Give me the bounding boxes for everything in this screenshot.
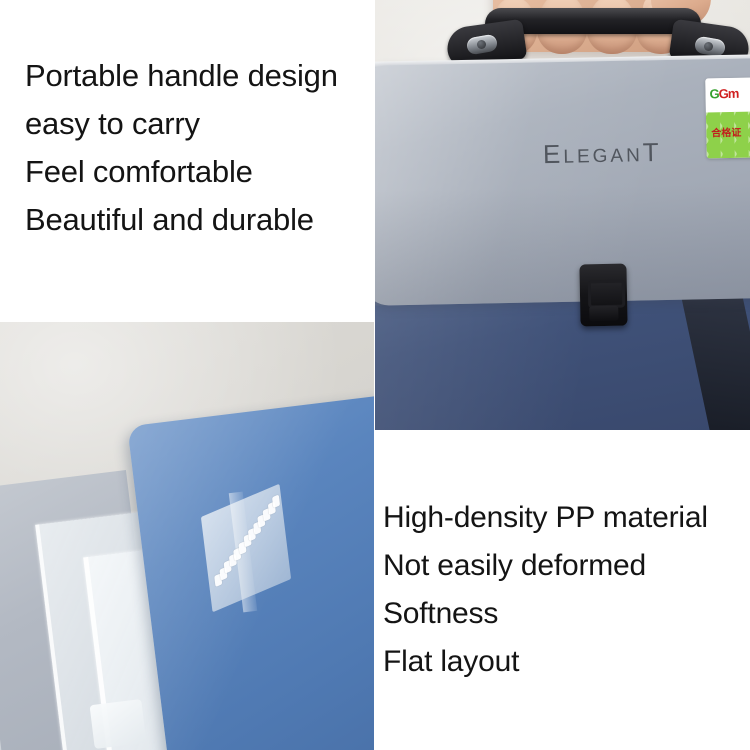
vertical-divider [374, 0, 375, 750]
material-line-3: Softness [383, 590, 708, 638]
feature-line-4: Beautiful and durable [25, 196, 338, 244]
buckle-base [589, 306, 618, 322]
brand-last: T [642, 137, 661, 167]
sticker-logo-label: Gm [719, 86, 739, 101]
grey-flap-shading [375, 183, 750, 306]
buckle-latch [588, 280, 626, 309]
buckle-clasp[interactable] [579, 264, 627, 327]
sticker-logo-text: GGm [709, 86, 738, 102]
product-feature-collage: Portable handle design easy to carry Fee… [0, 0, 750, 750]
hinge-rivet-right [704, 42, 713, 51]
hinge-rivet-left [477, 40, 486, 49]
feature-list-handle: Portable handle design easy to carry Fee… [25, 52, 338, 244]
material-line-4: Flat layout [383, 638, 708, 686]
feature-list-material: High-density PP material Not easily defo… [383, 494, 708, 686]
feature-line-2: easy to carry [25, 100, 338, 148]
material-line-1: High-density PP material [383, 494, 708, 542]
bottom-right-text-panel: High-density PP material Not easily defo… [375, 430, 750, 750]
sticker-cert-text: 合格证 [711, 124, 741, 140]
right-horizontal-divider [375, 430, 750, 431]
feature-line-1: Portable handle design [25, 52, 338, 100]
left-horizontal-divider [0, 321, 375, 322]
pp-divider-tab [90, 699, 147, 749]
top-left-text-panel: Portable handle design easy to carry Fee… [0, 0, 375, 322]
feature-line-3: Feel comfortable [25, 148, 338, 196]
index-number [272, 495, 280, 509]
material-line-2: Not easily deformed [383, 542, 708, 590]
product-photo-handle: ELEGANT GGm 合格证 [375, 0, 750, 431]
brand-logo: ELEGANT [543, 137, 662, 170]
product-sticker-label: GGm 合格证 [705, 78, 750, 159]
brand-rest: LEGAN [563, 145, 643, 168]
grey-front-flap [375, 58, 750, 306]
product-photo-interior [0, 322, 374, 750]
brand-initial: E [543, 139, 564, 169]
